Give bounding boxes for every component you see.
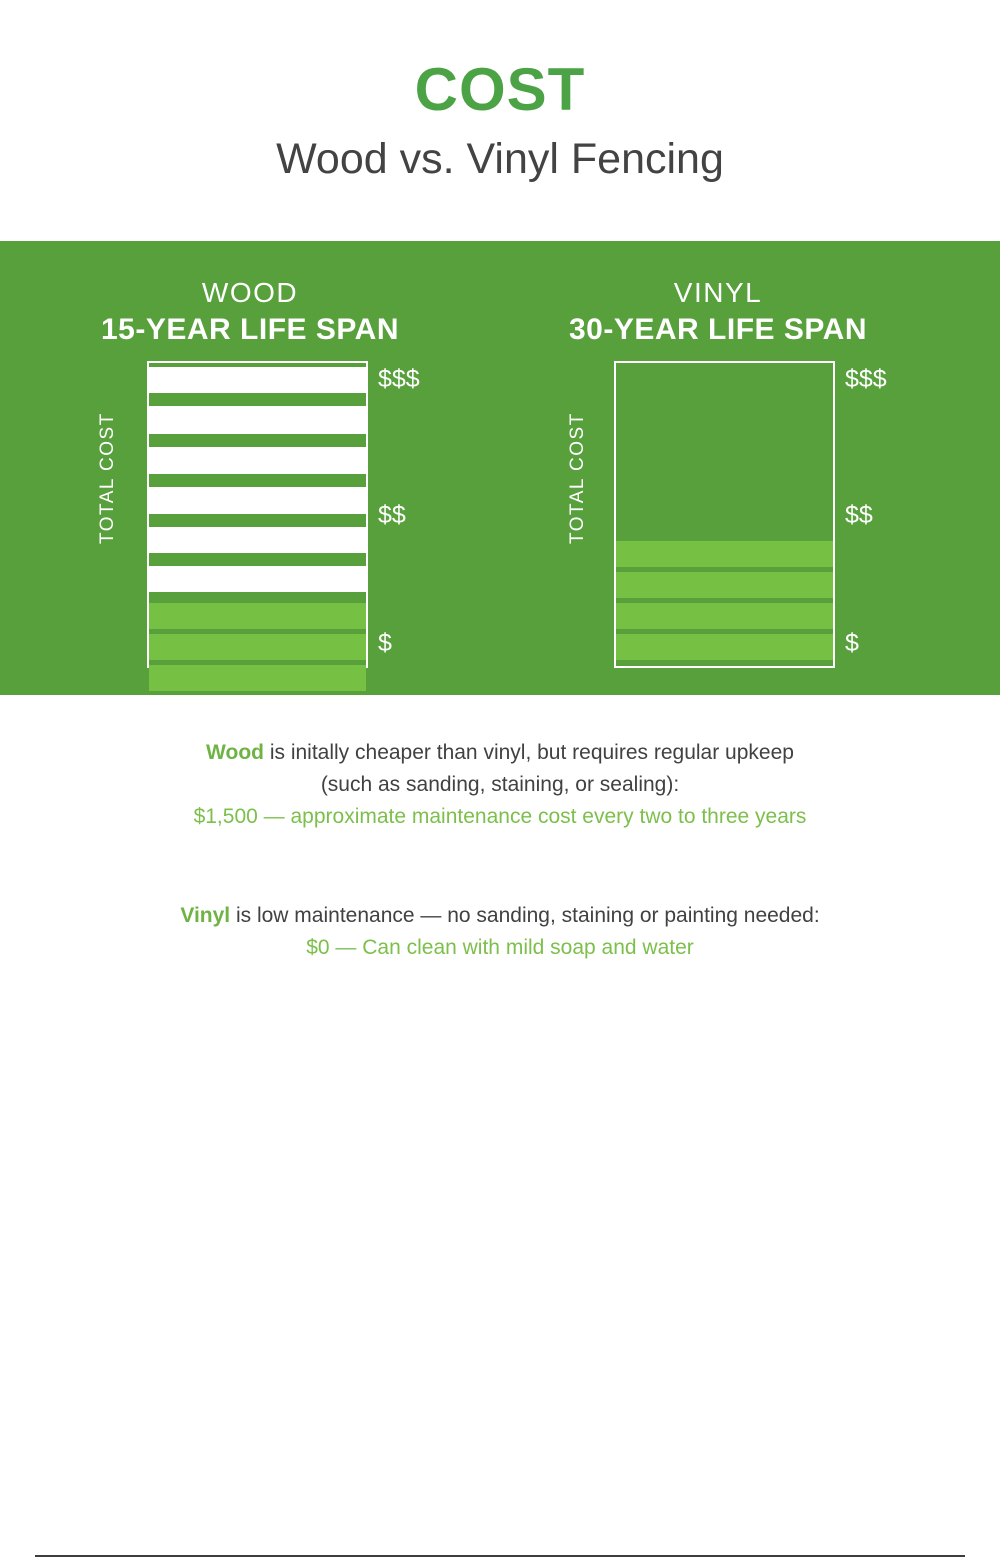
vinyl-initial-band bbox=[616, 541, 833, 567]
vinyl-initial-band bbox=[616, 572, 833, 598]
wood-initial-band bbox=[149, 634, 366, 660]
footer: Wood is initally cheaper than vinyl, but… bbox=[0, 695, 1000, 1000]
wood-maintenance-band bbox=[149, 367, 366, 393]
chart-column-vinyl: VINYL 30-YEAR LIFE SPAN TOTAL COST $$$ $… bbox=[468, 241, 968, 695]
vinyl-note-line1: Vinyl is low maintenance — no sanding, s… bbox=[0, 900, 1000, 932]
vinyl-tick-dollar1: $ bbox=[845, 629, 859, 658]
page-subtitle: Wood vs. Vinyl Fencing bbox=[276, 136, 724, 183]
chart-column-wood: WOOD 15-YEAR LIFE SPAN TOTAL COST bbox=[0, 241, 500, 695]
wood-note-line1: Wood is initally cheaper than vinyl, but… bbox=[0, 737, 1000, 769]
vinyl-cost-line: $0 — Can clean with mild soap and water bbox=[0, 932, 1000, 964]
wood-note: Wood is initally cheaper than vinyl, but… bbox=[0, 737, 1000, 833]
wood-initial-band bbox=[149, 603, 366, 629]
vinyl-note: Vinyl is low maintenance — no sanding, s… bbox=[0, 900, 1000, 964]
wood-bar-frame bbox=[147, 361, 368, 668]
wood-axis-label: TOTAL COST bbox=[97, 424, 119, 544]
wood-maintenance-band bbox=[149, 566, 366, 592]
wood-tick-dollar2: $$ bbox=[378, 501, 406, 530]
vinyl-tick-dollar3: $$$ bbox=[845, 365, 887, 394]
wood-maintenance-band bbox=[149, 487, 366, 514]
wood-tick-dollar1: $ bbox=[378, 629, 392, 658]
vinyl-initial-band bbox=[616, 634, 833, 660]
wood-keyword: Wood bbox=[206, 741, 264, 764]
vinyl-chart: TOTAL COST $$$ $$ $ bbox=[468, 361, 968, 671]
vinyl-bar-frame bbox=[614, 361, 835, 668]
wood-maintenance-band bbox=[149, 447, 366, 474]
vinyl-axis-label: TOTAL COST bbox=[567, 424, 589, 544]
vinyl-tick-dollar2: $$ bbox=[845, 501, 873, 530]
vinyl-note-line1-rest: is low maintenance — no sanding, stainin… bbox=[230, 904, 820, 927]
wood-bar-inner bbox=[149, 363, 366, 666]
wood-initial-band bbox=[149, 665, 366, 691]
wood-tick-dollar3: $$$ bbox=[378, 365, 420, 394]
wood-maintenance-band bbox=[149, 527, 366, 553]
vinyl-keyword: Vinyl bbox=[180, 904, 230, 927]
wood-cost-line: $1,500 — approximate maintenance cost ev… bbox=[0, 801, 1000, 833]
wood-note-line1-rest: is initally cheaper than vinyl, but requ… bbox=[264, 741, 794, 764]
vinyl-lifespan-label: 30-YEAR LIFE SPAN bbox=[468, 311, 968, 349]
chart-panel: WOOD 15-YEAR LIFE SPAN TOTAL COST bbox=[0, 241, 1000, 695]
vinyl-bar-inner bbox=[616, 363, 833, 666]
wood-lifespan-label: 15-YEAR LIFE SPAN bbox=[0, 311, 500, 349]
vinyl-initial-band bbox=[616, 603, 833, 629]
vinyl-material-label: VINYL bbox=[468, 277, 968, 309]
wood-note-line2: (such as sanding, staining, or sealing): bbox=[0, 769, 1000, 801]
wood-chart: TOTAL COST $$$ $$ bbox=[0, 361, 500, 671]
wood-headings: WOOD 15-YEAR LIFE SPAN bbox=[0, 241, 500, 349]
header: COST Wood vs. Vinyl Fencing bbox=[0, 0, 1000, 241]
wood-material-label: WOOD bbox=[0, 277, 500, 309]
vinyl-headings: VINYL 30-YEAR LIFE SPAN bbox=[468, 241, 968, 349]
page-title: COST bbox=[415, 60, 586, 120]
wood-maintenance-band bbox=[149, 406, 366, 434]
